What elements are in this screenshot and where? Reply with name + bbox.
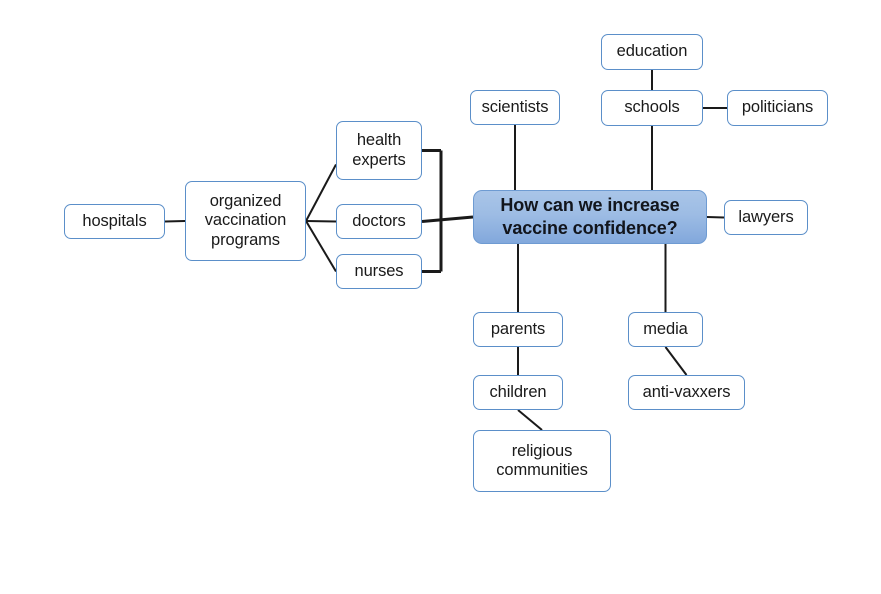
node-nurses[interactable]: nurses bbox=[336, 254, 422, 289]
edge-media-anti-vaxxers bbox=[666, 347, 687, 375]
edge-hospitals-programs bbox=[165, 221, 185, 222]
node-label-doctors: doctors bbox=[350, 212, 407, 231]
node-parents[interactable]: parents bbox=[473, 312, 563, 347]
node-label-scientists: scientists bbox=[480, 98, 551, 117]
node-children[interactable]: children bbox=[473, 375, 563, 410]
node-scientists[interactable]: scientists bbox=[470, 90, 560, 125]
node-label-religious-communities: religious communities bbox=[494, 442, 590, 481]
edge-programs-nurses bbox=[306, 221, 336, 272]
node-programs[interactable]: organized vaccination programs bbox=[185, 181, 306, 261]
edge-programs-health-experts bbox=[306, 165, 336, 222]
node-label-central: How can we increase vaccine confidence? bbox=[498, 194, 681, 241]
node-religious-communities[interactable]: religious communities bbox=[473, 430, 611, 492]
node-label-education: education bbox=[615, 42, 690, 61]
node-media[interactable]: media bbox=[628, 312, 703, 347]
edge-programs-doctors bbox=[306, 221, 336, 222]
node-label-nurses: nurses bbox=[353, 262, 406, 281]
mindmap-canvas: How can we increase vaccine confidence?h… bbox=[0, 0, 881, 594]
node-label-lawyers: lawyers bbox=[736, 208, 795, 227]
node-politicians[interactable]: politicians bbox=[727, 90, 828, 126]
node-label-anti-vaxxers: anti-vaxxers bbox=[641, 383, 733, 402]
node-health-experts[interactable]: health experts bbox=[336, 121, 422, 180]
node-education[interactable]: education bbox=[601, 34, 703, 70]
edge-children-religious-communities bbox=[518, 410, 542, 430]
node-label-health-experts: health experts bbox=[350, 131, 407, 170]
node-doctors[interactable]: doctors bbox=[336, 204, 422, 239]
node-schools[interactable]: schools bbox=[601, 90, 703, 126]
edge-central-lawyers bbox=[707, 217, 724, 218]
node-hospitals[interactable]: hospitals bbox=[64, 204, 165, 239]
edge-doctors-central bbox=[422, 217, 473, 222]
node-lawyers[interactable]: lawyers bbox=[724, 200, 808, 235]
node-label-hospitals: hospitals bbox=[80, 212, 148, 231]
node-central[interactable]: How can we increase vaccine confidence? bbox=[473, 190, 707, 244]
node-label-programs: organized vaccination programs bbox=[203, 192, 288, 250]
node-label-politicians: politicians bbox=[740, 98, 815, 117]
node-label-children: children bbox=[488, 383, 549, 402]
node-label-schools: schools bbox=[622, 98, 681, 117]
node-label-media: media bbox=[641, 320, 689, 339]
node-label-parents: parents bbox=[489, 320, 547, 339]
node-anti-vaxxers[interactable]: anti-vaxxers bbox=[628, 375, 745, 410]
